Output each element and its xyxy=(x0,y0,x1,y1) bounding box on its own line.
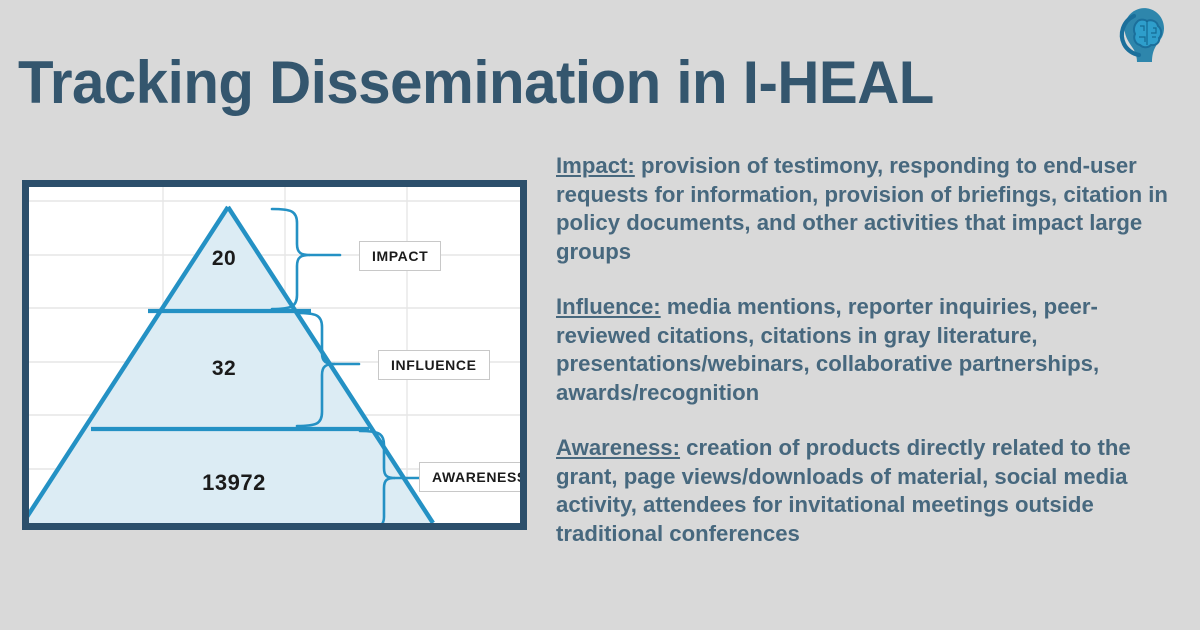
description-term-impact: Impact: xyxy=(556,153,635,178)
tier-label-awareness: AWARENESS xyxy=(419,462,520,492)
tier-label-influence: INFLUENCE xyxy=(378,350,490,380)
description-body-impact: provision of testimony, responding to en… xyxy=(556,153,1168,264)
pyramid-chart-panel: 20 32 13972 IMPACT INFLUENCE AWARENESS xyxy=(22,180,527,530)
tier-label-impact: IMPACT xyxy=(359,241,441,271)
tier-value-awareness: 13972 xyxy=(179,470,289,496)
tier-value-influence: 32 xyxy=(189,357,259,381)
brain-head-logo-svg xyxy=(1112,4,1192,66)
description-term-awareness: Awareness: xyxy=(556,435,680,460)
page-title: Tracking Dissemination in I-HEAL xyxy=(18,48,1075,118)
brain-head-logo xyxy=(1112,4,1192,66)
description-list: Impact: provision of testimony, respondi… xyxy=(556,152,1198,548)
description-influence: Influence: media mentions, reporter inqu… xyxy=(556,293,1188,407)
description-impact: Impact: provision of testimony, respondi… xyxy=(556,152,1188,266)
pyramid-chart-plot-area: 20 32 13972 IMPACT INFLUENCE AWARENESS xyxy=(29,187,520,523)
tier-value-impact: 20 xyxy=(189,247,259,271)
description-awareness: Awareness: creation of products directly… xyxy=(556,434,1188,548)
description-term-influence: Influence: xyxy=(556,294,661,319)
